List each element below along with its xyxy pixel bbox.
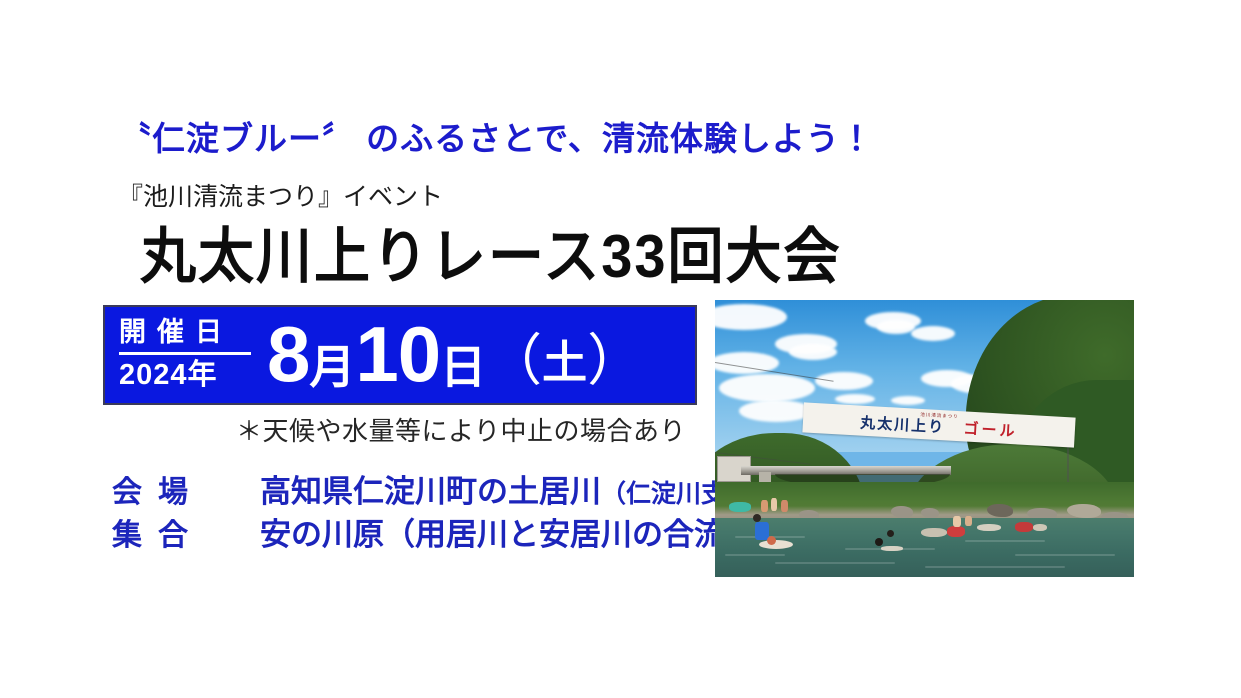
water-ripple [1015,554,1115,556]
person-shape [761,500,768,512]
person-shape [771,498,777,511]
float-red [947,526,965,537]
float-white [1033,524,1047,531]
cloud-icon [719,374,815,402]
float-tent [729,502,751,512]
tagline: 〝仁淀ブルー〞 のふるさとで、清流体験しよう！ [118,122,874,155]
water-ripple [925,566,1065,568]
float-white [977,524,1001,531]
event-subtitle: 『池川清流まつり』イベント [118,185,443,210]
date-label-year: 2024年 [119,355,251,392]
cloud-icon [877,320,915,334]
cloud-icon [789,344,837,360]
cloud-icon [891,396,925,405]
swimmer-head [767,536,776,545]
photo-goal-banner-text: 池川清流まつり 丸太川上り ゴール [860,410,1018,440]
rock-shape [987,504,1013,517]
page-title: 丸太川上りレース33回大会 [140,226,842,286]
date-paren-close: ） [587,335,643,387]
swimmer-head [887,530,894,537]
info-value-meeting-main: 安の川原（用居川と安居川の合流点） [260,517,787,552]
photo-banner-main-text: 丸太川上り [860,414,946,436]
info-value-meeting: 安の川原（用居川と安居川の合流点） [260,517,787,554]
date-banner: 開催日 2024年 8 月 10 日 （ 土 ） [103,305,697,405]
float-white [921,528,947,537]
poster-root: 〝仁淀ブルー〞 のふるさとで、清流体験しよう！ 『池川清流まつり』イベント 丸太… [0,0,1241,698]
date-value-column: 8 月 10 日 （ 土 ） [263,307,695,403]
info-key-venue: 会場 [112,475,260,510]
info-key-meeting: 集合 [112,518,260,553]
info-value-venue: 高知県仁淀川町の土居川（仁淀川支流） [260,474,776,511]
float-board [881,546,903,551]
cloud-icon [911,326,955,341]
cloud-icon [739,400,813,422]
swimmer-head [875,538,883,546]
date-month-unit: 月 [309,346,355,388]
date-label-kaisaibi: 開催日 [119,317,251,355]
date-label-column: 開催日 2024年 [105,307,263,403]
event-photo: 池川清流まつり 丸太川上り ゴール [715,300,1134,577]
water-ripple [775,562,895,564]
float-white [759,540,793,549]
rock-shape [891,506,913,518]
water-ripple [965,540,1045,542]
date-day-number: 10 [355,319,440,391]
person-shape [953,516,961,527]
cloud-icon [835,394,875,404]
date-day-unit: 日 [440,346,486,388]
date-month-number: 8 [267,319,309,391]
swimmer-head [753,514,761,522]
rock-shape [921,508,939,518]
date-paren-open: （ [486,335,542,387]
person-shape [781,500,788,512]
info-row-venue: 会場 高知県仁淀川町の土居川（仁淀川支流） [112,474,787,511]
cancellation-note: ＊天候や水量等により中止の場合あり [236,418,686,444]
photo-banner-goal-text: ゴール [963,420,1018,440]
info-value-venue-main: 高知県仁淀川町の土居川 [260,474,601,509]
date-day-of-week: 土 [542,342,587,383]
info-row-meeting: 集合 安の川原（用居川と安居川の合流点） [112,517,787,554]
cloud-icon [815,372,873,390]
person-shape [965,516,972,526]
water-ripple [725,554,785,556]
info-block: 会場 高知県仁淀川町の土居川（仁淀川支流） 集合 安の川原（用居川と安居川の合流… [112,474,787,559]
float-red [1015,522,1033,532]
